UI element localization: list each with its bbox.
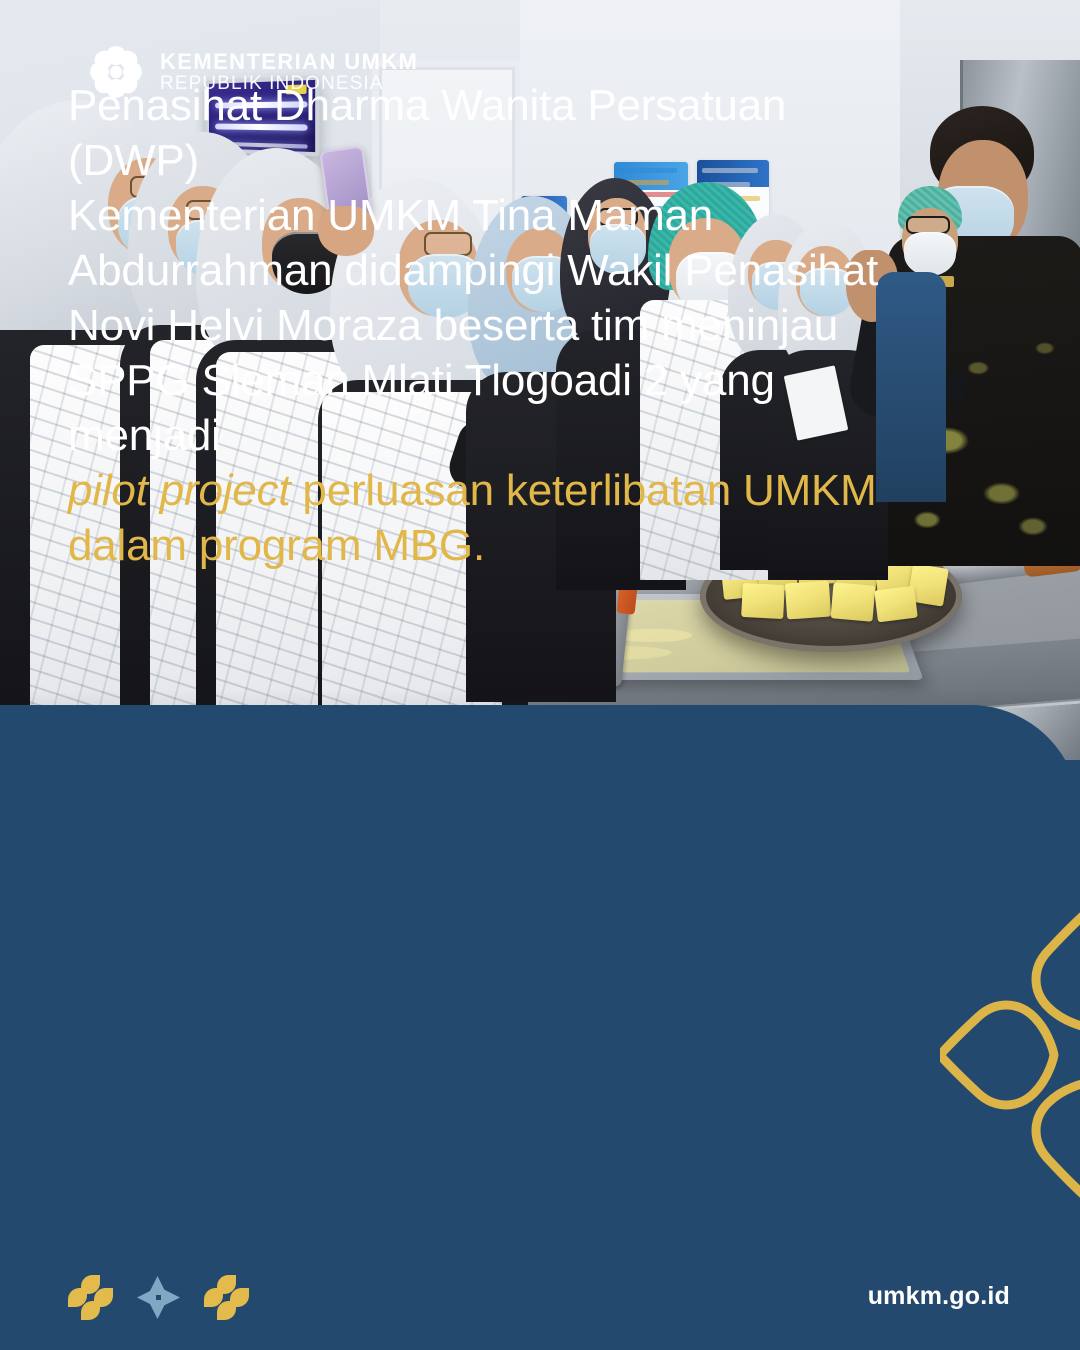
caption-line-4: Novi Helvi Moraza beserta tim meninjau	[68, 301, 838, 350]
website-url[interactable]: umkm.go.id	[868, 1282, 1010, 1311]
caption-line-1: Penasihat Dharma Wanita Persatuan (DWP)	[68, 81, 786, 185]
four-petal-flower-filled-icon	[204, 1275, 250, 1321]
caption-text: Penasihat Dharma Wanita Persatuan (DWP) …	[68, 78, 918, 573]
four-triangle-diamond-icon	[136, 1275, 182, 1321]
four-petal-flower-filled-icon	[68, 1275, 114, 1321]
caption-highlight-italic: pilot project	[68, 466, 290, 515]
caption-line-7: dalam program MBG.	[68, 521, 485, 570]
brand-line-1: KEMENTERIAN UMKM	[160, 50, 418, 74]
social-media-poster: KEMENTERIAN UMKM REPUBLIK INDONESIA Pena…	[0, 0, 1080, 1350]
caption-line-6-rest: perluasan keterlibatan UMKM	[290, 466, 876, 515]
caption-line-3: Abdurrahman didampingi Wakil Penasihat	[68, 246, 878, 295]
footer-ornaments	[68, 1275, 250, 1321]
caption-line-5: SPPG Sleman Mlati Tlogoadi 2 yang menjad…	[68, 356, 775, 460]
caption-panel	[0, 705, 1080, 1350]
caption-line-2: Kementerian UMKM Tina Maman	[68, 191, 713, 240]
